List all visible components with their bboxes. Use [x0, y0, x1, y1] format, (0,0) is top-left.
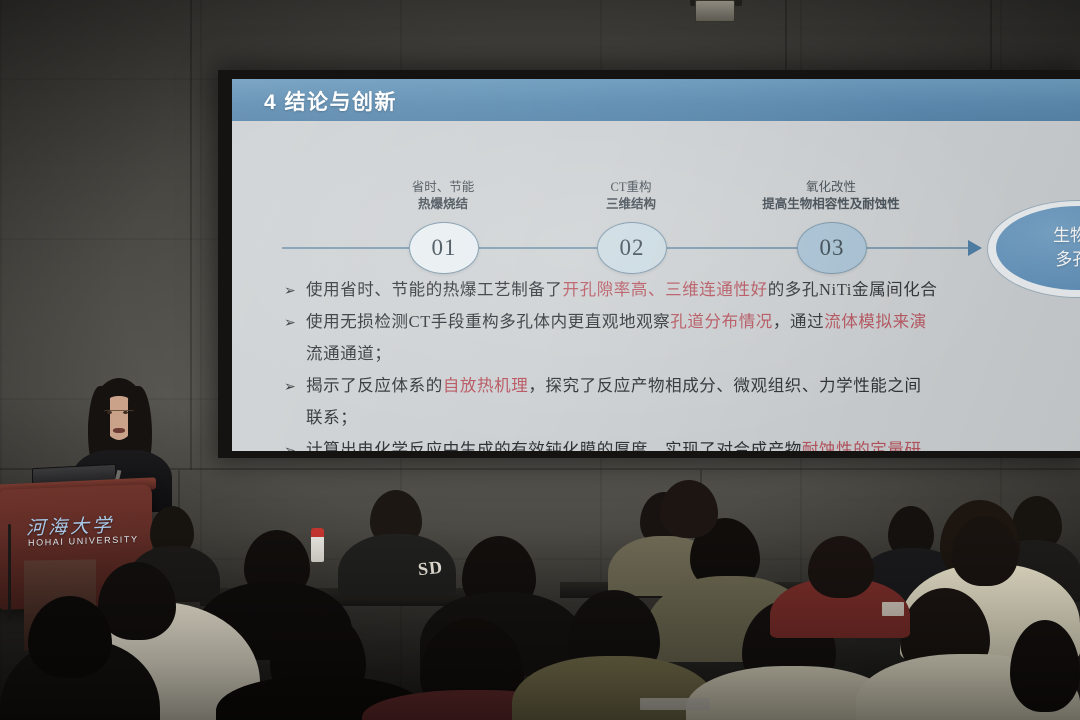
bullet-text: ，探究了反应产物相成分、微观组织、力学性能之间 [528, 376, 921, 395]
bullet-text: 使用省时、节能的热爆工艺制备了 [306, 280, 563, 299]
notebook-paper [640, 698, 710, 710]
timeline-label-1-line1: 省时、节能 [363, 179, 523, 196]
bullet-marker-icon: ➢ [284, 309, 306, 339]
bullet-item: ➢揭示了反应体系的自放热机理，探究了反应产物相成分、微观组织、力学性能之间 [284, 371, 1080, 403]
timeline-label-3: 氧化改性 提高生物相容性及耐蚀性 [711, 179, 951, 213]
bullet-continuation: ➢联系； [284, 403, 1080, 435]
slide-header-bar: 4 结论与创新 [232, 79, 1080, 121]
bullet-text: 联系； [306, 408, 357, 427]
projector-bracket-icon [695, 0, 735, 22]
timeline-label-1-line2: 热爆烧结 [363, 196, 523, 213]
bullet-highlight-text: 流体模拟来演 [824, 312, 927, 331]
bullet-text: 揭示了反应体系的 [306, 376, 443, 395]
timeline-outcome-line2: 多孔N [1055, 248, 1080, 272]
presenter-eye-right [123, 411, 128, 414]
audience-head [660, 480, 718, 538]
timeline-node-01: 01 [409, 222, 479, 274]
lecture-hall-photo: 4 结论与创新 省时、节能 热爆烧结 CT重构 三维结构 氧化改性 提高生物相容… [0, 0, 1080, 720]
timeline-node-03: 03 [797, 222, 867, 274]
bullet-text: 使用无损检测CT手段重构多孔体内更直观地观察 [306, 312, 670, 331]
timeline-label-1: 省时、节能 热爆烧结 [363, 179, 523, 213]
timeline-label-2-line1: CT重构 [551, 179, 711, 196]
notebook-paper [882, 602, 904, 616]
slide-title: 4 结论与创新 [264, 86, 397, 116]
jersey-logo: SD [417, 557, 444, 580]
bullet-highlight-text: 耐蚀性的定量研 [802, 440, 922, 451]
bullet-continuation: ➢流通通道； [284, 339, 1080, 371]
timeline-label-2-line2: 三维结构 [551, 196, 711, 213]
presenter-eye-left [107, 411, 112, 414]
bullet-marker-icon: ➢ [284, 277, 306, 307]
presenter-mouth [113, 428, 125, 433]
slide-timeline-graphic: 省时、节能 热爆烧结 CT重构 三维结构 氧化改性 提高生物相容性及耐蚀性 01… [232, 121, 1080, 281]
bullet-marker-icon: ➢ [284, 373, 306, 403]
water-bottle [311, 528, 324, 562]
bullet-highlight-text: 孔道分布情况 [670, 312, 773, 331]
timeline-arrow-icon [968, 240, 982, 256]
timeline-label-3-line1: 氧化改性 [711, 179, 951, 196]
bullet-marker-icon: ➢ [284, 437, 306, 451]
bullet-item: ➢计算出电化学反应中生成的有效钝化膜的厚度，实现了对合成产物耐蚀性的定量研 [284, 435, 1080, 451]
timeline-outcome-line1: 生物医 [1053, 224, 1080, 248]
bullet-text: 流通通道； [306, 344, 392, 363]
bullet-text: 的多孔NiTi金属间化合 [768, 280, 938, 299]
timeline-label-3-line2: 提高生物相容性及耐蚀性 [711, 196, 951, 213]
projection-screen: 4 结论与创新 省时、节能 热爆烧结 CT重构 三维结构 氧化改性 提高生物相容… [232, 79, 1080, 451]
audience-head [808, 536, 874, 598]
slide-bullet-list: ➢使用省时、节能的热爆工艺制备了开孔隙率高、三维连通性好的多孔NiTi金属间化合… [284, 275, 1080, 451]
timeline-label-2: CT重构 三维结构 [551, 179, 711, 213]
bullet-text: 计算出电化学反应中生成的有效钝化膜的厚度，实现了对合成产物 [306, 440, 802, 451]
audience: M SD [0, 470, 1080, 720]
bullet-text: ，通过 [773, 312, 824, 331]
bullet-item: ➢使用省时、节能的热爆工艺制备了开孔隙率高、三维连通性好的多孔NiTi金属间化合 [284, 275, 1080, 307]
bullet-highlight-text: 自放热机理 [443, 376, 529, 395]
timeline-node-02: 02 [597, 222, 667, 274]
bullet-highlight-text: 开孔隙率高、三维连通性好 [563, 280, 768, 299]
bullet-item: ➢使用无损检测CT手段重构多孔体内更直观地观察孔道分布情况，通过流体模拟来演 [284, 307, 1080, 339]
